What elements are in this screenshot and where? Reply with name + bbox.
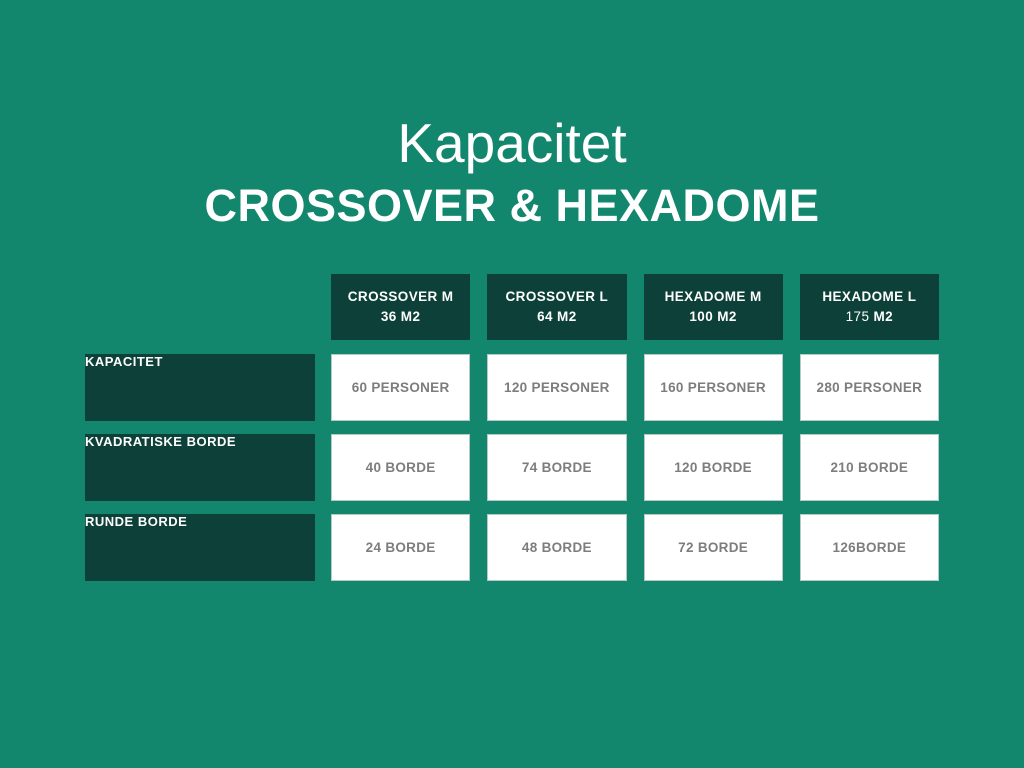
table-cell: 40 BORDE: [331, 434, 470, 501]
title-primary: Kapacitet: [0, 112, 1024, 174]
column-header-area: 36 M2: [348, 307, 454, 327]
column-header-crossover-l: CROSSOVER L 64 M2: [487, 274, 626, 340]
table-cell: 74 BORDE: [487, 434, 626, 501]
table-corner-cell: [85, 274, 315, 340]
table-row: RUNDE BORDE 24 BORDE 48 BORDE 72 BORDE 1…: [85, 514, 939, 581]
column-header-name: HEXADOME L: [822, 287, 916, 307]
table-row: KVADRATISKE BORDE 40 BORDE 74 BORDE 120 …: [85, 434, 939, 501]
table-row: KAPACITET 60 PERSONER 120 PERSONER 160 P…: [85, 354, 939, 421]
column-header-area: 100 M2: [665, 307, 762, 327]
column-header-crossover-m: CROSSOVER M 36 M2: [331, 274, 470, 340]
column-header-name: HEXADOME M: [665, 287, 762, 307]
table-cell: 60 PERSONER: [331, 354, 470, 421]
table-cell: 120 PERSONER: [487, 354, 626, 421]
column-header-hexadome-l: HEXADOME L 175 M2: [800, 274, 939, 340]
column-header-area-unit: M2: [874, 309, 894, 324]
column-header-area-number: 175: [846, 309, 870, 324]
table-cell: 120 BORDE: [644, 434, 783, 501]
page-title: Kapacitet CROSSOVER & HEXADOME: [0, 112, 1024, 232]
column-header-name: CROSSOVER M: [348, 287, 454, 307]
capacity-table: CROSSOVER M 36 M2 CROSSOVER L 64 M2 HEXA…: [85, 274, 939, 581]
row-label-kvadratiske-borde: KVADRATISKE BORDE: [85, 434, 315, 501]
column-header-hexadome-m: HEXADOME M 100 M2: [644, 274, 783, 340]
column-header-area: 175 M2: [822, 307, 916, 327]
table-cell: 210 BORDE: [800, 434, 939, 501]
column-header-area: 64 M2: [506, 307, 609, 327]
column-header-name: CROSSOVER L: [506, 287, 609, 307]
table-cell: 24 BORDE: [331, 514, 470, 581]
table-cell: 126BORDE: [800, 514, 939, 581]
table-cell: 160 PERSONER: [644, 354, 783, 421]
title-secondary: CROSSOVER & HEXADOME: [0, 180, 1024, 232]
row-label-kapacitet: KAPACITET: [85, 354, 315, 421]
table-header-row: CROSSOVER M 36 M2 CROSSOVER L 64 M2 HEXA…: [85, 274, 939, 340]
table-cell: 48 BORDE: [487, 514, 626, 581]
table-cell: 280 PERSONER: [800, 354, 939, 421]
table-cell: 72 BORDE: [644, 514, 783, 581]
row-label-runde-borde: RUNDE BORDE: [85, 514, 315, 581]
